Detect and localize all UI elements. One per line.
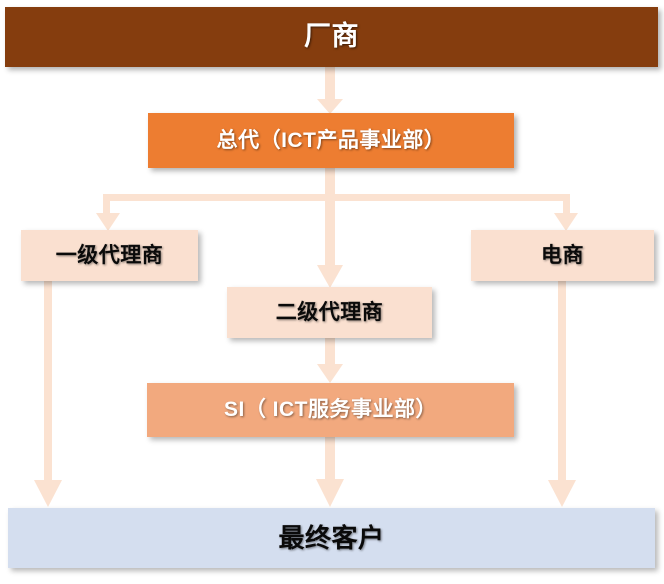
node-end-customer-label: 最终客户 <box>278 524 384 553</box>
edge-tier1-to-customer <box>34 281 62 507</box>
node-master-distributor-label: 总代（ICT产品事业部） <box>217 129 446 152</box>
node-tier2-agent[interactable]: 二级代理商 <box>227 287 432 338</box>
node-vendor[interactable]: 厂商 <box>5 7 658 67</box>
node-tier1-agent-label: 一级代理商 <box>56 244 164 267</box>
edge-ecom-to-customer <box>548 281 576 507</box>
node-ecommerce[interactable]: 电商 <box>471 230 654 281</box>
edge-vendor-to-master <box>317 67 343 114</box>
channel-distribution-flowchart: 厂商 总代（ICT产品事业部） 一级代理商 二级代理商 电商 SI（ ICT服务… <box>0 0 664 584</box>
node-master-distributor[interactable]: 总代（ICT产品事业部） <box>148 113 514 168</box>
node-tier1-agent[interactable]: 一级代理商 <box>21 230 198 281</box>
node-system-integrator-label: SI（ ICT服务事业部） <box>224 398 437 421</box>
node-tier2-agent-label: 二级代理商 <box>276 301 384 324</box>
node-vendor-label: 厂商 <box>304 22 359 52</box>
edge-tier2-to-si <box>317 338 343 383</box>
edge-si-to-customer <box>316 437 344 507</box>
node-end-customer[interactable]: 最终客户 <box>8 508 655 568</box>
node-ecommerce-label: 电商 <box>541 244 584 267</box>
node-system-integrator[interactable]: SI（ ICT服务事业部） <box>147 383 514 437</box>
